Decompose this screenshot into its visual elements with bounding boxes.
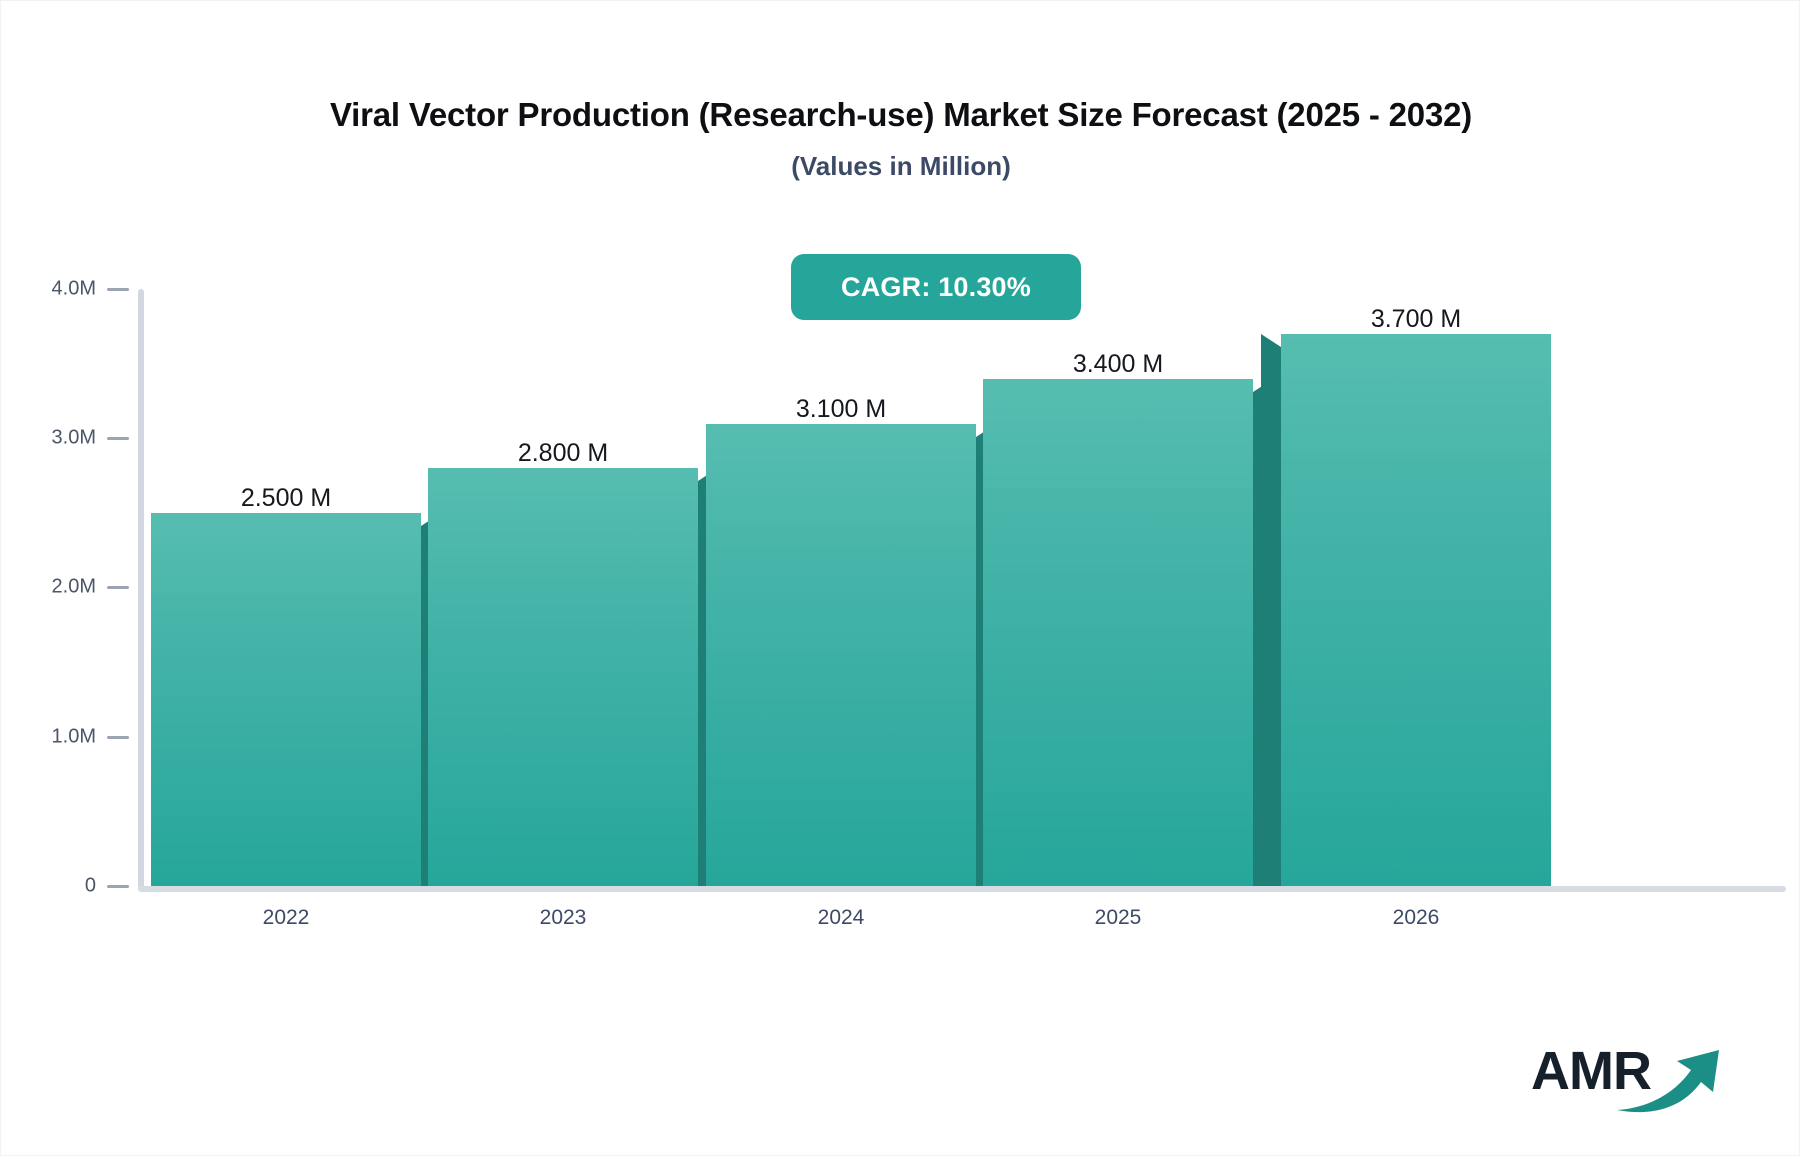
bar-value-label-2026: 3.700 M	[1256, 305, 1576, 334]
growth-arrow-icon	[1615, 1044, 1725, 1121]
plot-area: 0 1.0M 2.0M 3.0M 4.0M 2.500 M 2022 2.800…	[1, 1, 1800, 1157]
bar-front-2023	[428, 468, 698, 886]
y-tick-label-3: 3.0M	[0, 427, 96, 450]
bar-2026[interactable]	[1281, 334, 1551, 886]
x-tick-label-2023: 2023	[403, 906, 723, 930]
y-tick-mark-2	[107, 586, 129, 589]
x-tick-label-2026: 2026	[1256, 906, 1576, 930]
y-tick-label-1: 1.0M	[0, 726, 96, 749]
bar-2024[interactable]	[706, 424, 976, 886]
bar-2023[interactable]	[428, 468, 698, 886]
bar-value-label-2022: 2.500 M	[126, 484, 446, 513]
chart-canvas: Viral Vector Production (Research-use) M…	[0, 0, 1800, 1156]
bar-value-label-2023: 2.800 M	[403, 439, 723, 468]
y-tick-label-2: 2.0M	[0, 576, 96, 599]
x-tick-label-2024: 2024	[681, 906, 1001, 930]
amr-logo: AMR	[1531, 1036, 1731, 1116]
bar-front-2025	[983, 379, 1253, 886]
bar-front-2022	[151, 513, 421, 886]
bar-2022[interactable]	[151, 513, 421, 886]
y-axis-line	[138, 289, 144, 889]
bar-2025[interactable]	[983, 379, 1253, 886]
y-tick-mark-1	[107, 736, 129, 739]
bar-front-2026	[1281, 334, 1551, 886]
y-tick-label-4: 4.0M	[0, 278, 96, 301]
x-tick-label-2022: 2022	[126, 906, 446, 930]
y-tick-label-0: 0	[0, 875, 96, 898]
bar-side-2026	[1261, 334, 1281, 886]
y-tick-mark-4	[107, 288, 129, 291]
y-tick-mark-0	[107, 885, 129, 888]
bar-value-label-2025: 3.400 M	[958, 350, 1278, 379]
x-axis-line	[138, 886, 1786, 892]
x-tick-label-2025: 2025	[958, 906, 1278, 930]
y-tick-mark-3	[107, 437, 129, 440]
bar-value-label-2024: 3.100 M	[681, 395, 1001, 424]
bar-front-2024	[706, 424, 976, 886]
